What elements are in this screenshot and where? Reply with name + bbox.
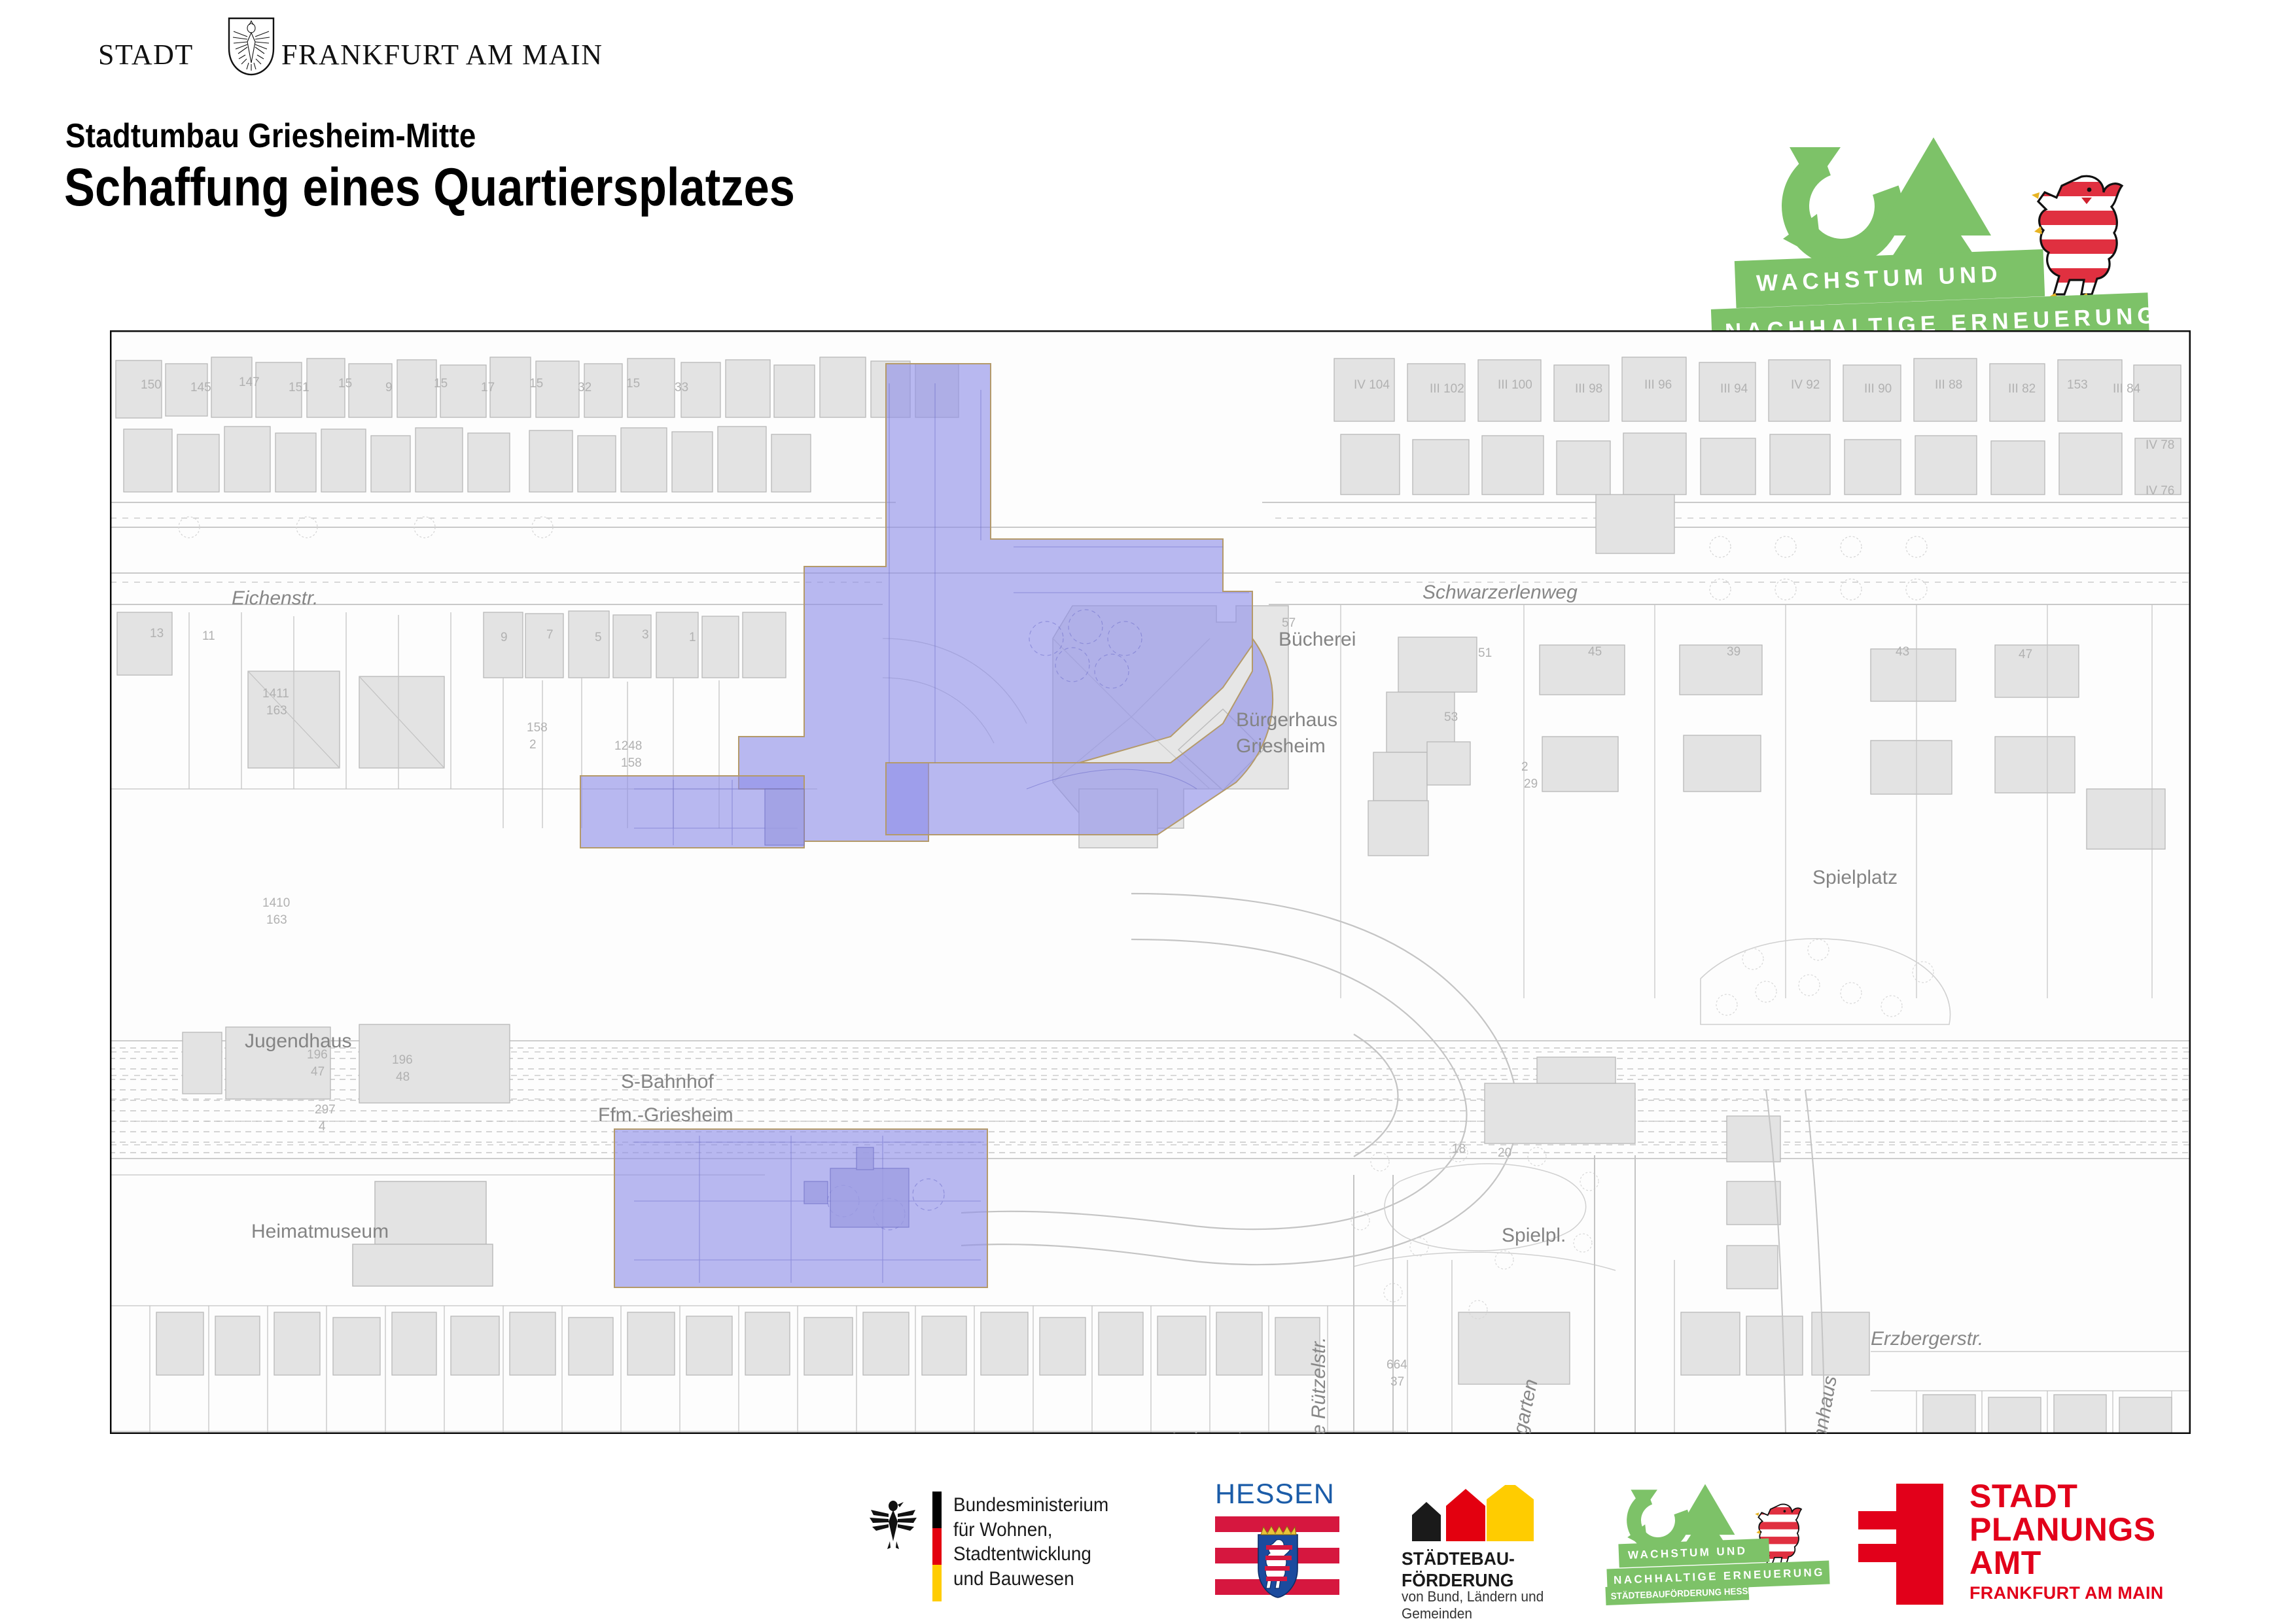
bmwsb-text: Bundesministerium für Wohnen, Stadtentwi… [953, 1493, 1159, 1591]
svg-text:151: 151 [289, 381, 309, 394]
stbf-line3: von Bund, Ländern und [1402, 1588, 1544, 1605]
svg-text:47: 47 [311, 1065, 325, 1079]
city-logo-wordmark: STADT FRANKFURT AM MAIN [98, 38, 517, 75]
page-title: Schaffung eines Quartiersplatzes [64, 157, 795, 218]
staedtebaufoerderung-title: STÄDTEBAU- FÖRDERUNG [1402, 1548, 1515, 1591]
place-label-heimatmuseum: Heimatmuseum [251, 1221, 389, 1243]
city-logo-word-frankfurt: FRANKFURT AM MAIN [281, 38, 603, 71]
bmwsb-logo: Bundesministerium für Wohnen, Stadtentwi… [867, 1484, 1174, 1608]
street-label-eichenstr: Eichenstr. [232, 587, 318, 610]
place-label-jugendhaus: Jugendhaus [245, 1030, 351, 1053]
federal-eagle-icon [867, 1495, 919, 1552]
svg-text:33: 33 [675, 381, 688, 394]
spa-line4: FRANKFURT AM MAIN [1969, 1583, 2164, 1603]
three-houses-icon [1405, 1485, 1536, 1541]
svg-text:45: 45 [1588, 645, 1602, 659]
svg-text:39: 39 [1727, 645, 1740, 659]
svg-text:5: 5 [595, 631, 602, 644]
svg-text:13: 13 [150, 627, 164, 640]
footer-logo-bar: Bundesministerium für Wohnen, Stadtentwi… [0, 1472, 2296, 1622]
svg-text:III 98: III 98 [1575, 382, 1602, 396]
svg-text:2: 2 [529, 738, 537, 752]
page-subtitle: Stadtumbau Griesheim-Mitte [65, 116, 476, 156]
svg-text:18: 18 [1452, 1142, 1466, 1156]
program-logo-small: WACHSTUM UND NACHHALTIGE ERNEUERUNG STÄD… [1610, 1484, 1884, 1611]
svg-text:196: 196 [392, 1053, 413, 1067]
svg-text:32: 32 [578, 381, 592, 394]
svg-text:3: 3 [642, 628, 649, 642]
bmwsb-line2: für Wohnen, Stadtentwicklung [953, 1518, 1159, 1567]
svg-text:29: 29 [1524, 777, 1538, 791]
frankfurt-red-block-icon [1858, 1484, 1943, 1605]
svg-text:15: 15 [529, 377, 543, 391]
stadtplanungsamt-wordmark: STADT PLANUNGS AMT [1969, 1480, 2156, 1580]
stadtplanungsamt-logo: STADT PLANUNGS AMT FRANKFURT AM MAIN [1858, 1480, 2199, 1611]
svg-text:III 96: III 96 [1644, 378, 1672, 392]
svg-text:IV 78: IV 78 [2146, 438, 2174, 452]
svg-text:IV 92: IV 92 [1791, 378, 1820, 392]
place-label-buergerhaus: Bürgerhaus [1236, 709, 1337, 731]
hessen-wordmark: HESSEN [1215, 1478, 1335, 1510]
svg-text:1411: 1411 [262, 687, 289, 701]
svg-text:IV 76: IV 76 [2146, 484, 2174, 498]
svg-text:III 84: III 84 [2113, 382, 2141, 396]
place-label-spielplatz: Spielplatz [1812, 867, 1898, 889]
svg-text:7: 7 [546, 628, 554, 642]
svg-text:15: 15 [626, 377, 640, 391]
bmwsb-line3: und Bauwesen [953, 1567, 1159, 1592]
bmwsb-line1: Bundesministerium [953, 1493, 1159, 1518]
german-flag-bar-icon [932, 1492, 942, 1601]
svg-text:53: 53 [1444, 710, 1458, 724]
site-map[interactable]: 150145147 151159 151715 321533 IV 104III… [110, 330, 2191, 1434]
street-label-schwarzerlenweg: Schwarzerlenweg [1422, 582, 1578, 604]
svg-text:2: 2 [1521, 760, 1528, 774]
staedtebaufoerderung-subtitle: von Bund, Ländern und Gemeinden [1402, 1588, 1544, 1623]
svg-text:147: 147 [239, 375, 260, 389]
svg-text:664: 664 [1386, 1358, 1407, 1372]
spa-line1: STADT [1969, 1480, 2156, 1513]
svg-text:1: 1 [689, 631, 696, 644]
stbf-line4: Gemeinden [1402, 1605, 1544, 1622]
svg-text:17: 17 [481, 381, 495, 394]
place-label-spielpl: Spielpl. [1502, 1225, 1566, 1247]
svg-text:37: 37 [1390, 1375, 1404, 1389]
place-label-griesheim: Griesheim [1236, 735, 1326, 758]
city-logo: STADT FRANKFURT AM MAIN [98, 31, 517, 76]
stbf-line1: STÄDTEBAU- [1402, 1548, 1515, 1569]
svg-text:III 82: III 82 [2008, 382, 2036, 396]
svg-text:163: 163 [266, 913, 287, 927]
svg-text:297: 297 [315, 1103, 336, 1117]
svg-text:51: 51 [1478, 646, 1492, 660]
svg-text:15: 15 [338, 377, 352, 391]
staedtebaufoerderung-logo: STÄDTEBAU- FÖRDERUNG von Bund, Ländern u… [1400, 1485, 1597, 1613]
svg-text:158: 158 [621, 756, 642, 770]
place-label-s-bahnhof: S-Bahnhof [621, 1071, 714, 1093]
svg-text:150: 150 [141, 378, 162, 392]
svg-text:9: 9 [501, 631, 508, 644]
svg-text:III 94: III 94 [1720, 382, 1748, 396]
place-label-ffm-griesheim: Ffm.-Griesheim [598, 1104, 733, 1126]
svg-text:48: 48 [396, 1070, 410, 1084]
svg-text:15: 15 [434, 377, 448, 391]
svg-text:9: 9 [385, 381, 393, 394]
svg-text:163: 163 [266, 704, 287, 718]
city-logo-word-stadt: STADT [98, 38, 194, 71]
svg-text:III 102: III 102 [1430, 382, 1464, 396]
svg-text:III 90: III 90 [1864, 382, 1892, 396]
svg-text:1410: 1410 [262, 896, 290, 910]
place-label-buecherei: Bücherei [1279, 629, 1356, 651]
svg-text:57: 57 [1282, 616, 1296, 630]
hessen-logo: HESSEN [1214, 1478, 1345, 1609]
svg-text:47: 47 [2019, 648, 2032, 661]
street-label-erzbergerstr: Erzbergerstr. [1871, 1328, 1983, 1350]
svg-text:43: 43 [1896, 645, 1909, 659]
street-label-obere-ruetzelstr: Obere Rützelstr. [1308, 1337, 1330, 1434]
spa-line2: PLANUNGS [1969, 1513, 2156, 1546]
svg-text:11: 11 [202, 629, 215, 643]
svg-text:1248: 1248 [614, 739, 642, 753]
svg-text:145: 145 [190, 381, 211, 394]
svg-text:4: 4 [319, 1120, 326, 1134]
spa-line3: AMT [1969, 1546, 2156, 1580]
svg-text:III 100: III 100 [1498, 378, 1532, 392]
svg-text:153: 153 [2067, 378, 2088, 392]
svg-text:III 88: III 88 [1935, 378, 1962, 392]
svg-text:20: 20 [1498, 1146, 1511, 1160]
svg-text:158: 158 [527, 721, 548, 735]
svg-text:IV 104: IV 104 [1354, 378, 1390, 392]
hessen-shield-lion-icon [1257, 1526, 1299, 1599]
